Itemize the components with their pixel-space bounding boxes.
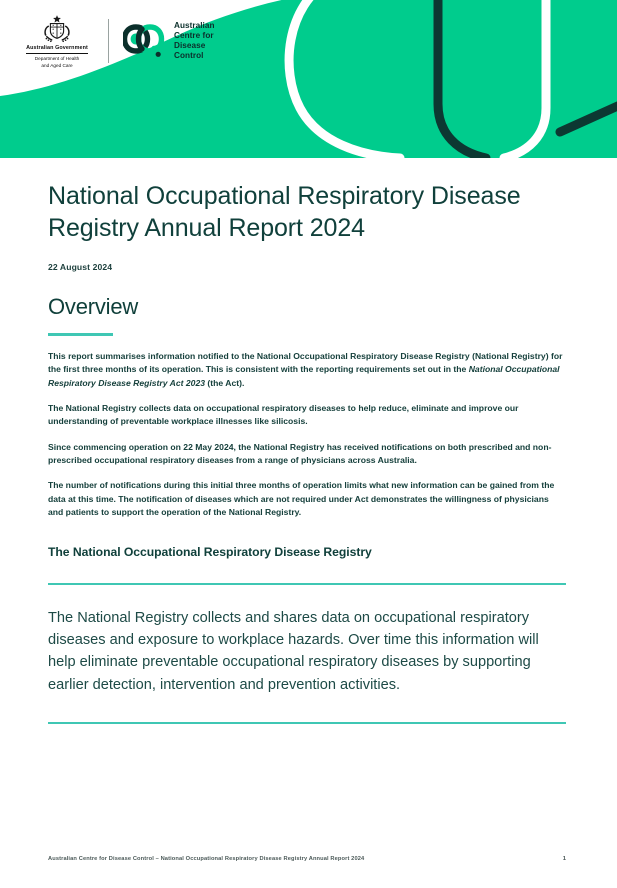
page-title: National Occupational Respiratory Diseas… xyxy=(48,180,528,244)
footer-page-number: 1 xyxy=(563,856,566,862)
overview-paragraph-4: The number of notifications during this … xyxy=(48,479,566,519)
overview-paragraph-3: Since commencing operation on 22 May 202… xyxy=(48,441,566,468)
page-content: National Occupational Respiratory Diseas… xyxy=(0,158,617,724)
document-date: 22 August 2024 xyxy=(48,262,566,272)
overview-accent-rule xyxy=(48,333,113,336)
pull-quote-text: The National Registry collects and share… xyxy=(48,607,548,696)
australian-government-logo: Australian Government Department of Heal… xyxy=(14,12,100,69)
pull-quote-block: The National Registry collects and share… xyxy=(48,583,566,724)
australian-government-crest-icon xyxy=(37,14,77,44)
header-banner: Australian Government Department of Heal… xyxy=(0,0,617,158)
overview-heading: Overview xyxy=(48,294,566,320)
page-footer: Australian Centre for Disease Control – … xyxy=(48,856,566,862)
acdc-logo: Australian Centre for Disease Control xyxy=(123,21,215,61)
government-wordmark: Australian Government xyxy=(26,46,88,54)
logo-divider xyxy=(108,19,109,63)
overview-paragraph-2: The National Registry collects data on o… xyxy=(48,402,566,429)
footer-citation: Australian Centre for Disease Control – … xyxy=(48,856,364,862)
acdc-interlocking-mark-icon xyxy=(123,24,167,58)
acdc-wordmark: Australian Centre for Disease Control xyxy=(174,21,215,61)
department-wordmark: Department of Health and Aged Care xyxy=(35,56,80,69)
logo-lockup: Australian Government Department of Heal… xyxy=(14,12,215,69)
overview-paragraph-1: This report summarises information notif… xyxy=(48,350,566,390)
section-heading-registry: The National Occupational Respiratory Di… xyxy=(48,545,566,559)
